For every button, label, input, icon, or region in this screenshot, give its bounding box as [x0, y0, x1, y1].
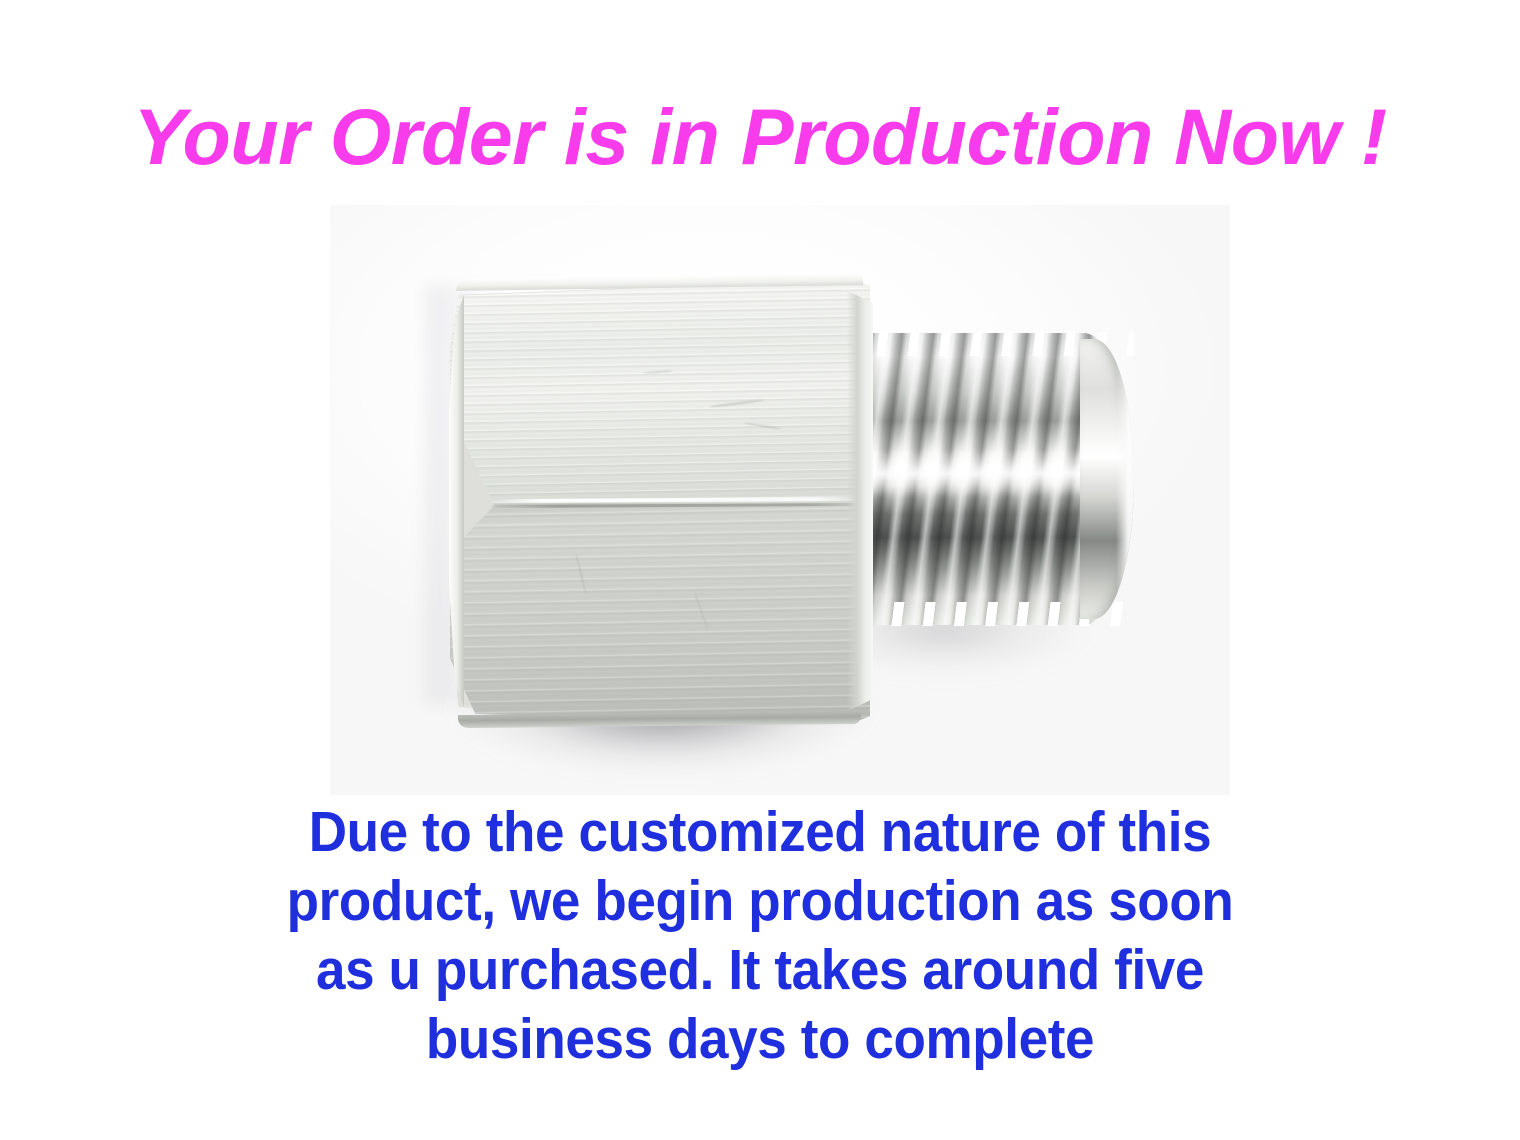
thread-end-cap-highlight — [1080, 339, 1134, 619]
product-image — [330, 205, 1230, 795]
male-thread-section — [850, 333, 1130, 625]
hex-machining-marks-lower — [450, 503, 870, 725]
body-copy-line: product, we begin production as soon — [53, 867, 1467, 936]
hex-shoulder-face — [847, 290, 873, 711]
page-title: Your Order is in Production Now ! — [0, 96, 1520, 179]
promo-banner: Your Order is in Production Now ! — [0, 0, 1520, 1140]
body-copy-line: Due to the customized nature of this — [53, 798, 1467, 867]
body-copy: Due to the customized nature of this pro… — [53, 798, 1467, 1074]
body-copy-line: as u purchased. It takes around five — [53, 936, 1467, 1005]
hex-machining-marks-upper — [450, 277, 870, 510]
hex-body — [450, 277, 870, 725]
body-copy-line: business days to complete — [53, 1005, 1467, 1074]
